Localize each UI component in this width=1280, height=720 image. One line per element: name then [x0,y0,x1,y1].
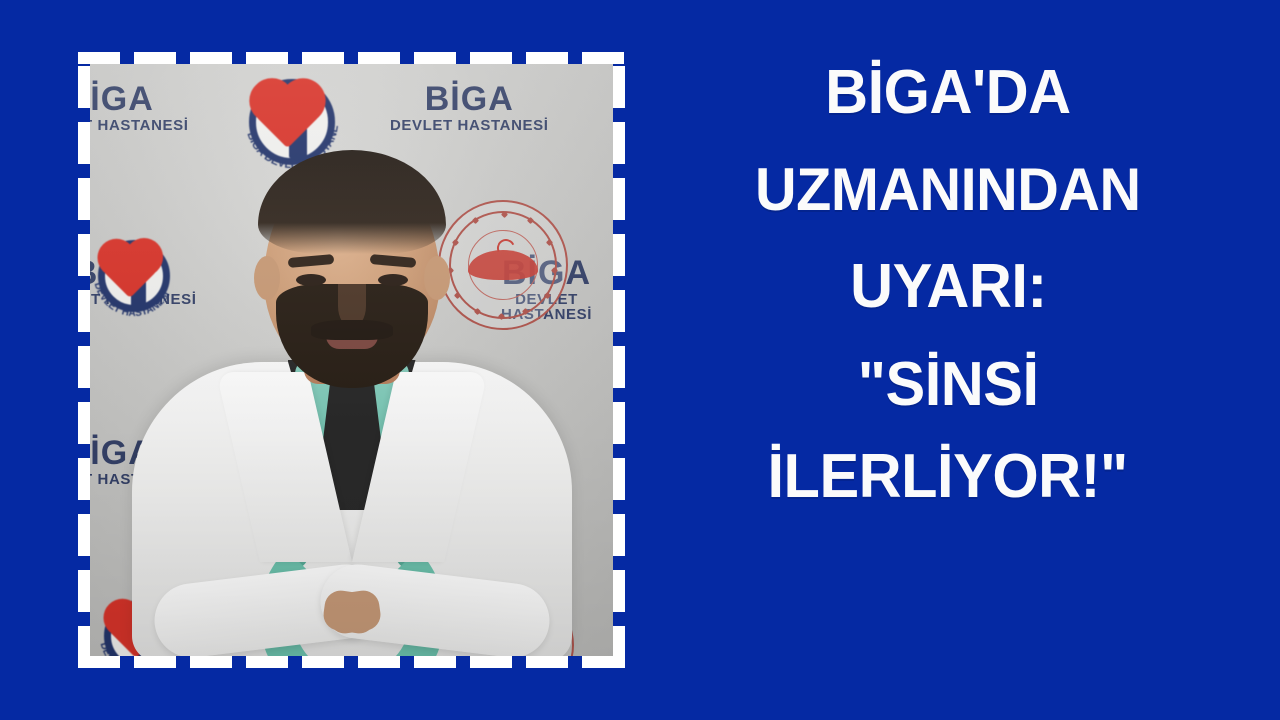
headline-line-4: "SİNSİ [858,354,1039,416]
news-thumbnail-card: BİGA DEVLET HASTANESİ BİGA DEVLET HASTAN… [0,0,1280,720]
headline-line-5: İLERLİYOR!" [768,446,1128,508]
headline-line-1: BİGA'DA [825,62,1071,124]
doctor-photo-block: BİGA DEVLET HASTANESİ BİGA DEVLET HASTAN… [78,52,625,668]
headline-block: BİGA'DA UZMANINDAN UYARI: "SİNSİ İLERLİY… [648,62,1248,662]
headline-line-2: UZMANINDAN [755,160,1141,220]
photo-image: BİGA DEVLET HASTANESİ BİGA DEVLET HASTAN… [90,64,613,656]
headline-line-3: UYARI: [850,256,1047,318]
photo-vignette [90,64,613,656]
